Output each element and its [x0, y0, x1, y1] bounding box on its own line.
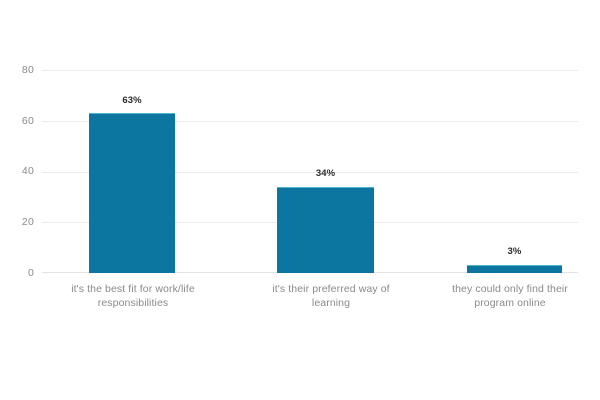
x-axis-category-line: it's their preferred way of: [231, 282, 431, 296]
bar[interactable]: [89, 113, 175, 273]
y-axis-tick-label: 40: [0, 165, 34, 177]
x-axis-category-line: learning: [231, 296, 431, 310]
plot-area: 63% 34% 3%: [42, 70, 578, 273]
bar-value-label: 63%: [122, 95, 141, 106]
x-axis-category-label: it's the best fit for work/life responsi…: [14, 282, 252, 310]
bar[interactable]: [277, 187, 374, 273]
y-axis-tick-label: 80: [0, 64, 34, 76]
x-axis-category-line: program online: [415, 296, 600, 310]
bar-group: 34%: [277, 70, 374, 273]
y-axis-tick-label: 20: [0, 216, 34, 228]
x-axis-category-label: they could only find their program onlin…: [415, 282, 600, 310]
x-axis-category-line: they could only find their: [415, 282, 600, 296]
bar-value-label: 34%: [316, 168, 335, 179]
y-axis-tick-label: 60: [0, 115, 34, 127]
bar-group: 3%: [467, 70, 562, 273]
x-axis-category-label: it's their preferred way of learning: [231, 282, 431, 310]
bar-value-label: 3%: [508, 246, 522, 257]
x-axis-category-line: responsibilities: [14, 296, 252, 310]
bar-chart: 0 20 40 60 80 63% 34% 3% it's the best: [0, 0, 600, 400]
bar[interactable]: [467, 265, 562, 273]
x-axis-category-line: it's the best fit for work/life: [14, 282, 252, 296]
bar-group: 63%: [89, 70, 175, 273]
y-axis-tick-label: 0: [0, 267, 34, 279]
